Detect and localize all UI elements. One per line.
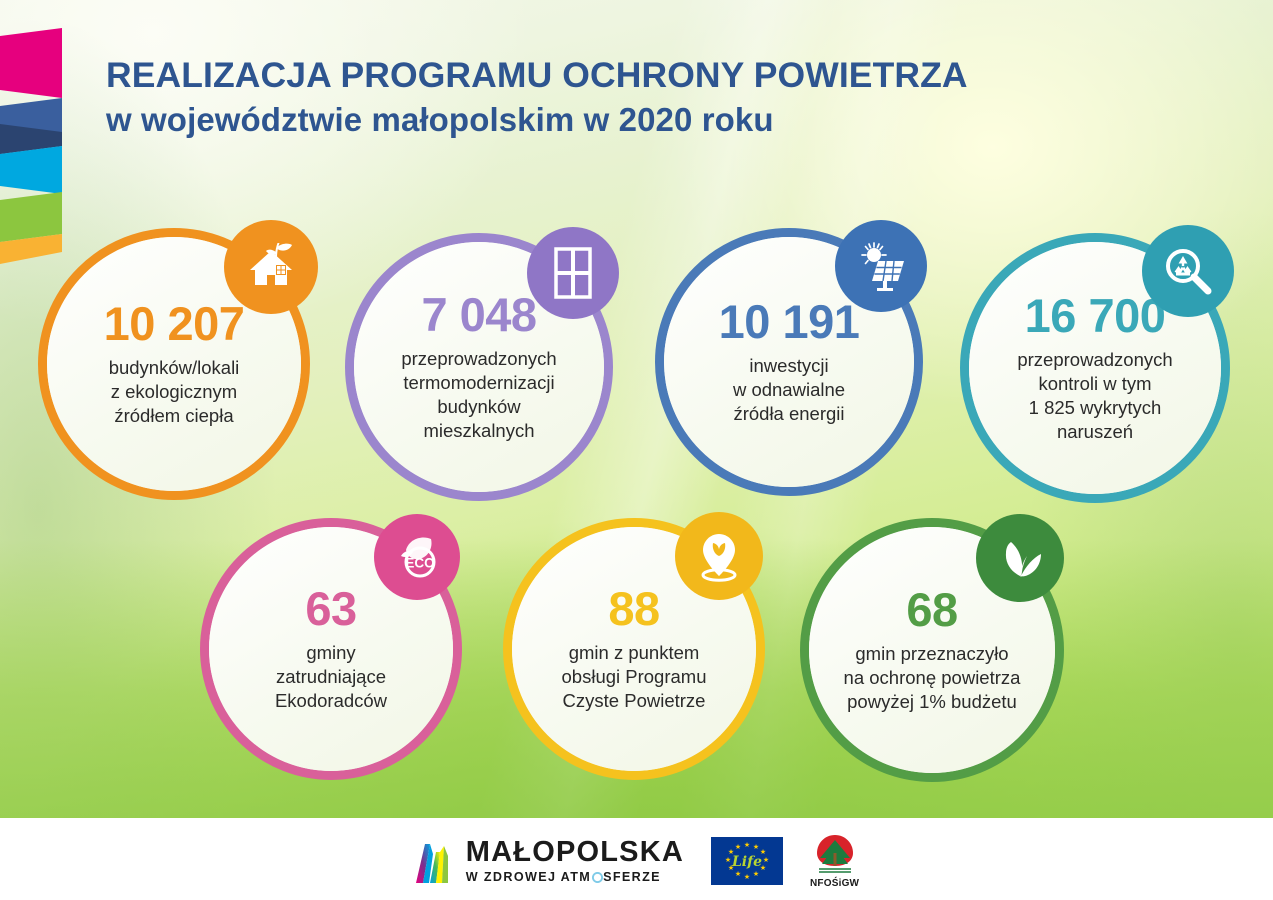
caption-line: obsługi Programu	[562, 665, 707, 689]
nfosigw-logo: NFOŚiGW	[810, 833, 859, 889]
malopolska-wordmark: MAŁOPOLSKA W ZDROWEJ ATM SFERZE	[466, 838, 684, 884]
caption-line: na ochronę powietrza	[844, 666, 1021, 690]
malopolska-tagline: W ZDROWEJ ATM SFERZE	[466, 871, 684, 884]
caption-line: budynków/lokali	[109, 356, 240, 380]
caption-line: w odnawialne	[733, 378, 845, 402]
caption-line: kontroli w tym	[1017, 372, 1172, 396]
caption-line: naruszeń	[1017, 420, 1172, 444]
atmosphere-o-icon	[592, 872, 603, 883]
stat-caption: przeprowadzonych termomodernizacji budyn…	[401, 347, 556, 443]
caption-line: termomodernizacji	[401, 371, 556, 395]
caption-line: gminy	[275, 641, 387, 665]
stat-caption: gmin z punktem obsługi Programu Czyste P…	[562, 641, 707, 713]
caption-line: z ekologicznym	[109, 380, 240, 404]
stat-card-budget-over-1-percent[interactable]: 68 gmin przeznaczyło na ochronę powietrz…	[800, 518, 1064, 782]
caption-line: Czyste Powietrze	[562, 689, 707, 713]
stat-card-clean-air-points[interactable]: 88 gmin z punktem obsługi Programu Czyst…	[503, 518, 765, 780]
stat-number: 10 191	[719, 298, 860, 345]
malopolska-logo: MAŁOPOLSKA W ZDROWEJ ATM SFERZE	[414, 838, 684, 884]
caption-line: budynków	[401, 395, 556, 419]
stat-card-inspections[interactable]: 16 700 przeprowadzonych kontroli w tym 1…	[960, 233, 1230, 503]
svg-text:★: ★	[735, 870, 741, 878]
window-icon	[527, 227, 619, 319]
svg-text:★: ★	[753, 843, 759, 851]
house-leaf-icon	[224, 220, 318, 314]
svg-text:★: ★	[735, 843, 741, 851]
eco-badge-text: ECO	[405, 556, 434, 571]
stat-number: 68	[906, 586, 957, 633]
page-title-line1: REALIZACJA PROGRAMU OCHRONY POWIETRZA	[106, 56, 1156, 94]
stat-caption: budynków/lokali z ekologicznym źródłem c…	[109, 356, 240, 428]
svg-text:★: ★	[744, 841, 750, 849]
footer-logos: MAŁOPOLSKA W ZDROWEJ ATM SFERZE ★★★ ★★★ …	[0, 830, 1273, 892]
life-wordmark: Life	[731, 854, 762, 870]
nfosigw-mark	[812, 833, 858, 877]
caption-line: inwestycji	[733, 354, 845, 378]
caption-line: źródłem ciepła	[109, 404, 240, 428]
stat-number: 63	[305, 585, 356, 632]
stat-number: 10 207	[104, 300, 245, 347]
stat-caption: gmin przeznaczyło na ochronę powietrza p…	[844, 642, 1021, 714]
caption-line: przeprowadzonych	[401, 347, 556, 371]
caption-line: mieszkalnych	[401, 419, 556, 443]
malopolska-m-mark	[414, 840, 456, 884]
stat-card-renewable-energy[interactable]: 10 191 inwestycji w odnawialne źródła en…	[655, 228, 923, 496]
svg-text:★: ★	[744, 873, 750, 881]
malopolska-name: MAŁOPOLSKA	[466, 838, 684, 867]
stat-card-thermomodernisation[interactable]: 7 048 przeprowadzonych termomodernizacji…	[345, 233, 613, 501]
stat-caption: inwestycji w odnawialne źródła energii	[733, 354, 845, 426]
magnifier-recycle-icon	[1142, 225, 1234, 317]
tagline-after: SFERZE	[603, 871, 661, 884]
header: REALIZACJA PROGRAMU OCHRONY POWIETRZA w …	[106, 56, 1156, 139]
caption-line: 1 825 wykrytych	[1017, 396, 1172, 420]
page-title-line2: w województwie małopolskim w 2020 roku	[106, 102, 1156, 139]
svg-text:★: ★	[725, 856, 731, 864]
stat-number: 16 700	[1025, 292, 1166, 339]
two-leaves-icon	[976, 514, 1064, 602]
eu-life-logo: ★★★ ★★★ ★★★ ★★★ Life	[711, 837, 783, 885]
infographic-page: REALIZACJA PROGRAMU OCHRONY POWIETRZA w …	[0, 0, 1273, 900]
nfosigw-label: NFOŚiGW	[810, 878, 859, 889]
stat-number: 7 048	[421, 291, 536, 338]
caption-line: przeprowadzonych	[1017, 348, 1172, 372]
svg-text:★: ★	[753, 870, 759, 878]
caption-line: źródła energii	[733, 402, 845, 426]
stat-caption: gminy zatrudniające Ekodoradców	[275, 641, 387, 713]
stat-number: 88	[608, 585, 659, 632]
stat-caption: przeprowadzonych kontroli w tym 1 825 wy…	[1017, 348, 1172, 444]
caption-line: zatrudniające	[275, 665, 387, 689]
caption-line: powyżej 1% budżetu	[844, 690, 1021, 714]
solar-panel-sun-icon	[835, 220, 927, 312]
eco-badge-icon: ECO	[374, 514, 460, 600]
svg-text:★: ★	[763, 856, 769, 864]
stat-card-eco-advisors[interactable]: 63 gminy zatrudniające Ekodoradców ECO	[200, 518, 462, 780]
stat-card-eco-heat-sources[interactable]: 10 207 budynków/lokali z ekologicznym źr…	[38, 228, 310, 500]
tagline-before: W ZDROWEJ ATM	[466, 871, 591, 884]
caption-line: gmin z punktem	[562, 641, 707, 665]
caption-line: Ekodoradców	[275, 689, 387, 713]
map-pin-leaf-icon	[675, 512, 763, 600]
caption-line: gmin przeznaczyło	[844, 642, 1021, 666]
